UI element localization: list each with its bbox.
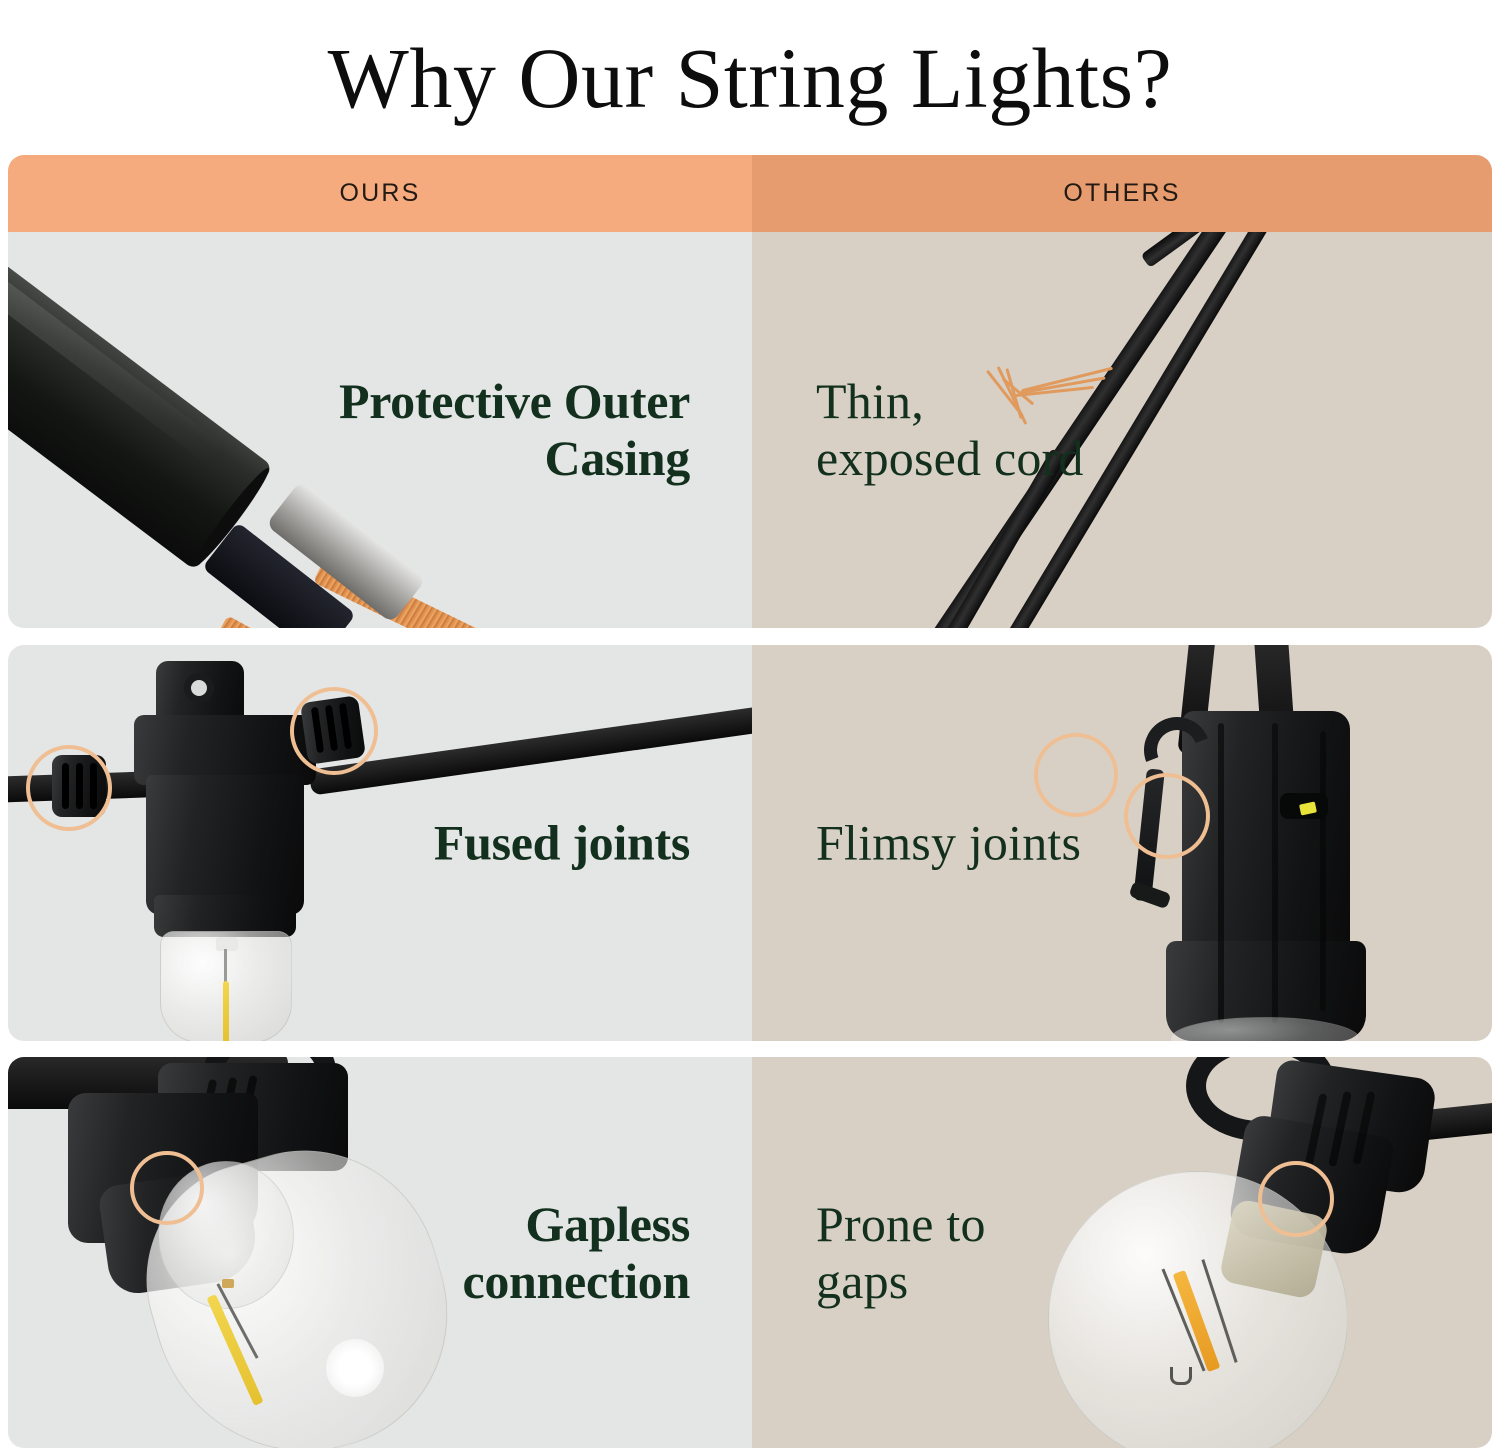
label-ours-row-1: Protective Outer Casing bbox=[339, 373, 690, 487]
label-ours-row-3-line-2: connection bbox=[462, 1253, 690, 1310]
cell-ours-gapless-connection: Gapless connection bbox=[8, 1057, 752, 1448]
highlight-circle-joint-right bbox=[290, 687, 378, 775]
label-ours-row-1-line-1: Protective Outer bbox=[339, 373, 690, 430]
cell-others-prone-to-gaps: Prone to gaps bbox=[752, 1057, 1492, 1448]
label-others-row-3-line-1: Prone to bbox=[816, 1196, 986, 1253]
label-ours-row-3: Gapless connection bbox=[462, 1196, 690, 1310]
table-header: OURS OTHERS bbox=[8, 155, 1492, 232]
label-others-row-1: Thin, exposed cord bbox=[816, 373, 1084, 487]
highlight-circle-joint-left bbox=[26, 745, 112, 831]
label-others-row-1-line-1: Thin, bbox=[816, 373, 1084, 430]
page-title: Why Our String Lights? bbox=[0, 0, 1500, 149]
highlight-circle-gap-upper bbox=[1034, 733, 1118, 817]
label-others-row-3-line-2: gaps bbox=[816, 1253, 986, 1310]
comparison-table: OURS OTHERS Protective Outer Casing bbox=[8, 155, 1492, 1448]
table-row: Fused joints bbox=[8, 645, 1492, 1041]
label-ours-row-2-line-1: Fused joints bbox=[434, 815, 690, 872]
highlight-circle-gapless-joint bbox=[130, 1151, 204, 1225]
column-header-ours-label: OURS bbox=[339, 179, 420, 208]
highlight-circle-gap-lower bbox=[1124, 773, 1210, 859]
label-others-row-2: Flimsy joints bbox=[816, 815, 1081, 872]
label-ours-row-3-line-1: Gapless bbox=[462, 1196, 690, 1253]
label-others-row-2-line-1: Flimsy joints bbox=[816, 815, 1081, 872]
table-row: Gapless connection bbox=[8, 1057, 1492, 1448]
column-header-ours: OURS bbox=[8, 155, 752, 232]
cell-others-flimsy-joints: Flimsy joints bbox=[752, 645, 1492, 1041]
cell-ours-fused-joints: Fused joints bbox=[8, 645, 752, 1041]
cell-others-exposed-cord: Thin, exposed cord bbox=[752, 232, 1492, 628]
cell-ours-protective-casing: Protective Outer Casing bbox=[8, 232, 752, 628]
highlight-circle-gap bbox=[1258, 1161, 1334, 1237]
label-others-row-1-line-2: exposed cord bbox=[816, 430, 1084, 487]
label-ours-row-1-line-2: Casing bbox=[339, 430, 690, 487]
column-header-others-label: OTHERS bbox=[1063, 179, 1180, 208]
label-others-row-3: Prone to gaps bbox=[816, 1196, 986, 1310]
column-header-others: OTHERS bbox=[752, 155, 1492, 232]
label-ours-row-2: Fused joints bbox=[434, 815, 690, 872]
table-row: Protective Outer Casing bbox=[8, 232, 1492, 628]
